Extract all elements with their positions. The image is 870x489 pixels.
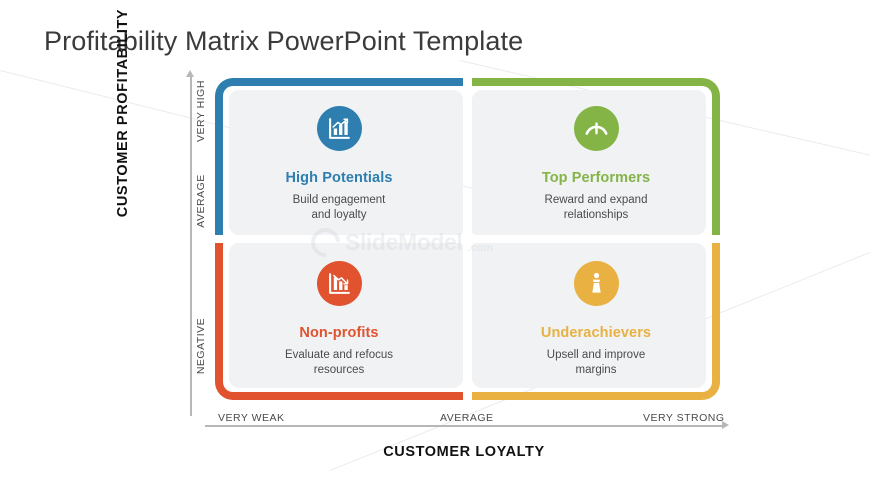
bar-chart-decline-icon — [317, 261, 362, 306]
x-axis-line — [205, 425, 723, 427]
y-axis-line — [190, 76, 192, 416]
quadrant-description: Evaluate and refocus resources — [285, 348, 393, 379]
quadrant-underachievers[interactable]: Underachievers Upsell and improve margin… — [472, 243, 720, 400]
quadrant-title: High Potentials — [285, 170, 392, 186]
quadrant-description-line: margins — [547, 363, 645, 378]
profitability-matrix: High Potentials Build engagement and loy… — [215, 78, 720, 400]
quadrant-description-line: relationships — [545, 208, 648, 223]
quadrant-description: Build engagement and loyalty — [293, 193, 386, 224]
quadrant-title: Top Performers — [542, 170, 650, 186]
x-axis-tick-average: AVERAGE — [440, 412, 494, 424]
podium-speaker-icon — [574, 261, 619, 306]
x-axis-tick-very-weak: VERY WEAK — [218, 412, 285, 424]
x-axis-title: CUSTOMER LOYALTY — [205, 444, 723, 460]
quadrant-title: Underachievers — [541, 325, 651, 341]
quadrant-description-line: Evaluate and refocus — [285, 348, 393, 363]
quadrant-top-performers[interactable]: Top Performers Reward and expand relatio… — [472, 78, 720, 235]
quadrant-non-profits[interactable]: Non-profits Evaluate and refocus resourc… — [215, 243, 463, 400]
y-axis-title: CUSTOMER PROFITABILITY — [115, 0, 131, 243]
quadrant-description-line: resources — [285, 363, 393, 378]
slide-canvas: Profitability Matrix PowerPoint Template… — [0, 0, 870, 489]
bar-chart-growth-icon — [317, 106, 362, 151]
quadrant-description-line: Upsell and improve — [547, 348, 645, 363]
quadrant-description: Upsell and improve margins — [547, 348, 645, 379]
quadrant-high-potentials[interactable]: High Potentials Build engagement and loy… — [215, 78, 463, 235]
quadrant-description-line: Build engagement — [293, 193, 386, 208]
quadrant-title: Non-profits — [299, 325, 378, 341]
y-axis-tick-negative: NEGATIVE — [195, 307, 207, 385]
y-axis-tick-average: AVERAGE — [195, 164, 207, 238]
x-axis-tick-very-strong: VERY STRONG — [643, 412, 725, 424]
quadrant-description-line: Reward and expand — [545, 193, 648, 208]
y-axis-tick-very-high: VERY HIGH — [195, 71, 207, 151]
quadrant-description-line: and loyalty — [293, 208, 386, 223]
gauge-icon — [574, 106, 619, 151]
quadrant-description: Reward and expand relationships — [545, 193, 648, 224]
